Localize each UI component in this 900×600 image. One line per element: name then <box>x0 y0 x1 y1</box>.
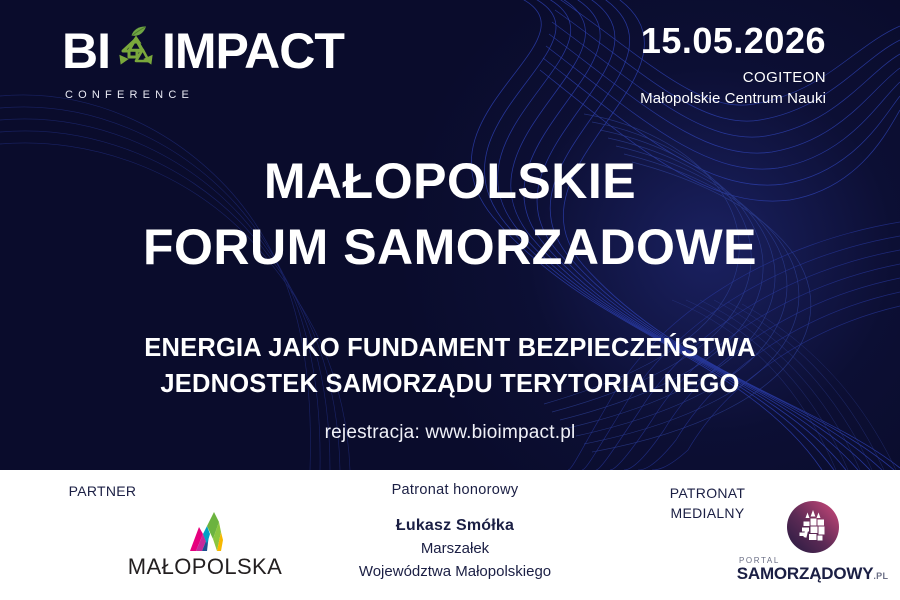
media-patronage-column: PATRONAT MEDIALNY <box>600 470 900 600</box>
event-title: MAŁOPOLSKIE FORUM SAMORZADOWE <box>0 148 900 280</box>
hero-section: BI <box>0 0 900 470</box>
event-subtitle-line2: JEDNOSTEK SAMORZĄDU TERYTORIALNEGO <box>0 366 900 402</box>
logo-text-impact: IMPACT <box>162 26 344 76</box>
event-subtitle: ENERGIA JAKO FUNDAMENT BEZPIECZEŃSTWA JE… <box>0 330 900 402</box>
portal-samorzadowy-mark-icon <box>786 500 840 554</box>
brand-logo[interactable]: BI <box>62 22 392 106</box>
portal-samorzadowy-wordmark: SAMORZĄDOWY <box>737 565 874 582</box>
event-date-venue: 15.05.2026 COGITEON Małopolskie Centrum … <box>496 22 826 107</box>
partner-column: PARTNER MAŁOP <box>0 470 310 600</box>
portal-samorzadowy-logo[interactable]: PORTAL SAMORZĄDOWY.PL <box>725 500 900 583</box>
logo-subtitle: CONFERENCE <box>65 89 392 101</box>
honorary-patronage-column: Patronat honorowy Łukasz Smółka Marszałe… <box>310 470 600 600</box>
malopolska-logo[interactable]: MAŁOPOLSKA <box>125 510 285 580</box>
partner-label: PARTNER <box>0 483 205 499</box>
recycle-leaf-icon <box>111 25 161 77</box>
conference-poster: BI <box>0 0 900 600</box>
registration-link[interactable]: rejestracja: www.bioimpact.pl <box>0 422 900 444</box>
event-title-line1: MAŁOPOLSKIE <box>0 148 900 214</box>
honorary-patronage-label: Patronat honorowy <box>310 482 600 498</box>
portal-samorzadowy-tld: .PL <box>873 572 888 581</box>
malopolska-wordmark: MAŁOPOLSKA <box>125 554 285 580</box>
event-subtitle-line1: ENERGIA JAKO FUNDAMENT BEZPIECZEŃSTWA <box>0 330 900 366</box>
honorary-patron-name: Łukasz Smółka <box>310 517 600 535</box>
venue-name: COGITEON <box>496 69 826 86</box>
logo-text-bi: BI <box>62 26 110 76</box>
event-title-line2: FORUM SAMORZADOWE <box>0 214 900 280</box>
event-date: 15.05.2026 <box>496 22 826 60</box>
malopolska-mark-icon <box>174 510 236 552</box>
honorary-patron-org: Województwa Małopolskiego <box>310 563 600 580</box>
footer-partners-bar: PARTNER MAŁOP <box>0 470 900 600</box>
honorary-patron-role: Marszałek <box>310 540 600 557</box>
venue-subtitle: Małopolskie Centrum Nauki <box>496 90 826 107</box>
